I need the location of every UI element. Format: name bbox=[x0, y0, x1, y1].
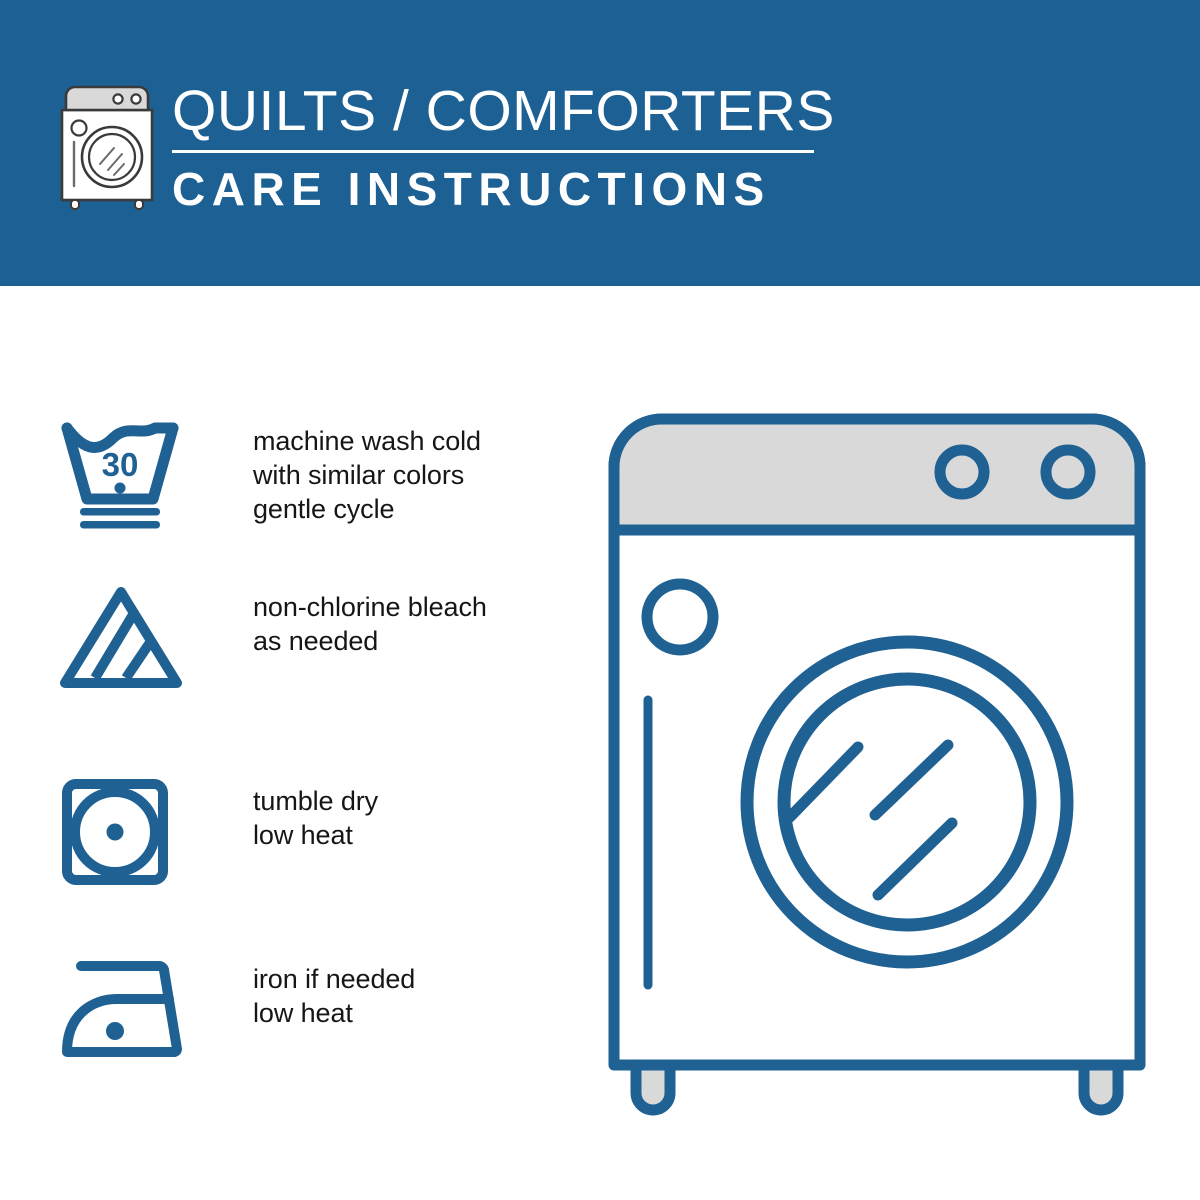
washing-machine-illustration-svg bbox=[600, 405, 1170, 1120]
care-text-line: iron if needed bbox=[253, 962, 415, 996]
header-title-block: QUILTS / COMFORTERS CARE INSTRUCTIONS bbox=[172, 78, 822, 216]
wash-tub-icon: 30 bbox=[55, 416, 205, 531]
care-text-line: non-chlorine bleach bbox=[253, 590, 487, 624]
control-knob-2[interactable] bbox=[1046, 450, 1090, 494]
washing-machine-icon bbox=[52, 80, 162, 210]
gentle-cycle-bar-1 bbox=[80, 508, 160, 516]
tumble-dry-icon bbox=[55, 776, 205, 886]
care-symbol-text-machine-wash: machine wash cold with similar colors ge… bbox=[253, 416, 481, 526]
care-symbol-text-bleach: non-chlorine bleach as needed bbox=[253, 582, 487, 658]
page-title: QUILTS / COMFORTERS bbox=[172, 78, 822, 144]
control-knob-1[interactable] bbox=[940, 450, 984, 494]
machine-leg-left bbox=[636, 1065, 670, 1110]
wash-heat-dot bbox=[115, 483, 126, 494]
gentle-cycle-bar-2 bbox=[80, 521, 160, 529]
wash-tub-svg: 30 bbox=[55, 416, 195, 531]
iron-heat-dot bbox=[106, 1022, 124, 1040]
logo-knob-1 bbox=[113, 94, 122, 103]
logo-knob-2 bbox=[131, 94, 140, 103]
care-text-line: machine wash cold bbox=[253, 424, 481, 458]
logo-dispenser-icon bbox=[72, 121, 87, 136]
iron-handle bbox=[81, 966, 164, 970]
care-text-line: low heat bbox=[253, 818, 378, 852]
washing-machine-illustration bbox=[600, 405, 1170, 1120]
logo-leg-left bbox=[71, 200, 79, 209]
page-header: QUILTS / COMFORTERS CARE INSTRUCTIONS bbox=[0, 0, 1200, 286]
logo-leg-right bbox=[135, 200, 143, 209]
title-divider bbox=[172, 150, 814, 153]
care-text-line: low heat bbox=[253, 996, 415, 1030]
detergent-dispenser-icon[interactable] bbox=[647, 584, 713, 650]
care-instructions-page: QUILTS / COMFORTERS CARE INSTRUCTIONS 30 bbox=[0, 0, 1200, 1200]
tumble-dry-svg bbox=[55, 776, 195, 886]
care-symbol-list: 30 machine wash cold with similar colors… bbox=[0, 286, 560, 1200]
tumble-dry-heat-dot bbox=[107, 824, 124, 841]
wash-temperature-label: 30 bbox=[102, 446, 139, 483]
care-text-line: gentle cycle bbox=[253, 492, 481, 526]
care-text-line: as needed bbox=[253, 624, 487, 658]
washing-machine-logo-svg bbox=[52, 80, 162, 210]
care-symbol-row-bleach: non-chlorine bleach as needed bbox=[0, 582, 560, 694]
iron-icon bbox=[55, 954, 205, 1062]
care-symbol-row-iron: iron if needed low heat bbox=[0, 954, 560, 1062]
logo-door-inner bbox=[89, 134, 135, 180]
care-text-line: with similar colors bbox=[253, 458, 481, 492]
bleach-triangle-icon bbox=[55, 582, 205, 694]
care-text-line: tumble dry bbox=[253, 784, 378, 818]
care-symbol-text-iron: iron if needed low heat bbox=[253, 954, 415, 1030]
care-symbol-row-machine-wash: 30 machine wash cold with similar colors… bbox=[0, 416, 560, 531]
bleach-triangle-svg bbox=[55, 582, 195, 694]
machine-leg-right bbox=[1084, 1065, 1118, 1110]
page-subtitle: CARE INSTRUCTIONS bbox=[172, 162, 822, 216]
care-symbol-row-tumble-dry: tumble dry low heat bbox=[0, 776, 560, 886]
care-symbol-text-tumble-dry: tumble dry low heat bbox=[253, 776, 378, 852]
iron-svg bbox=[55, 954, 195, 1062]
door-inner-ring[interactable] bbox=[784, 679, 1030, 925]
